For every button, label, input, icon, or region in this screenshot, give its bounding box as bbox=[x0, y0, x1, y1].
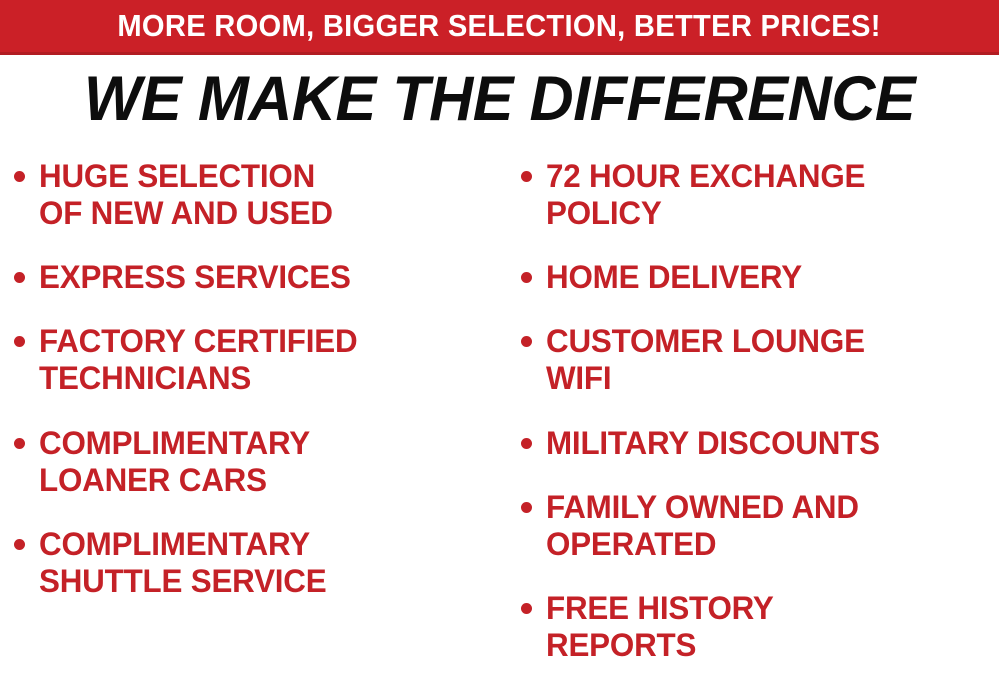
list-item-label: COMPLIMENTARY LOANER CARS bbox=[39, 425, 310, 499]
list-item: FACTORY CERTIFIED TECHNICIANS bbox=[14, 323, 505, 397]
benefits-column-right: 72 HOUR EXCHANGE POLICY HOME DELIVERY CU… bbox=[505, 158, 999, 692]
main-headline-text: WE MAKE THE DIFFERENCE bbox=[84, 68, 915, 131]
list-item: HOME DELIVERY bbox=[521, 259, 999, 296]
banner-headline-text: MORE ROOM, BIGGER SELECTION, BETTER PRIC… bbox=[118, 10, 881, 43]
list-item-label: 72 HOUR EXCHANGE POLICY bbox=[546, 158, 865, 232]
list-item: FREE HISTORY REPORTS bbox=[521, 590, 999, 664]
bullet-dot-icon bbox=[14, 539, 25, 550]
list-item: HUGE SELECTION OF NEW AND USED bbox=[14, 158, 505, 232]
promotional-poster: MORE ROOM, BIGGER SELECTION, BETTER PRIC… bbox=[0, 0, 999, 692]
list-item: EXPRESS SERVICES bbox=[14, 259, 505, 296]
bullet-dot-icon bbox=[521, 272, 532, 283]
list-item-label: EXPRESS SERVICES bbox=[39, 259, 351, 296]
list-item-label: FREE HISTORY REPORTS bbox=[546, 590, 774, 664]
list-item-label: HUGE SELECTION OF NEW AND USED bbox=[39, 158, 333, 232]
bullet-dot-icon bbox=[14, 171, 25, 182]
bullet-dot-icon bbox=[14, 336, 25, 347]
list-item: COMPLIMENTARY SHUTTLE SERVICE bbox=[14, 526, 505, 600]
list-item-label: MILITARY DISCOUNTS bbox=[546, 425, 880, 462]
list-item-label: CUSTOMER LOUNGE WIFI bbox=[546, 323, 865, 397]
list-item-label: FAMILY OWNED AND OPERATED bbox=[546, 489, 859, 563]
list-item: 72 HOUR EXCHANGE POLICY bbox=[521, 158, 999, 232]
list-item: CUSTOMER LOUNGE WIFI bbox=[521, 323, 999, 397]
bullet-dot-icon bbox=[521, 438, 532, 449]
main-headline: WE MAKE THE DIFFERENCE bbox=[0, 68, 999, 131]
benefits-columns: HUGE SELECTION OF NEW AND USED EXPRESS S… bbox=[0, 158, 999, 692]
list-item: MILITARY DISCOUNTS bbox=[521, 425, 999, 462]
list-item-label: HOME DELIVERY bbox=[546, 259, 802, 296]
top-banner: MORE ROOM, BIGGER SELECTION, BETTER PRIC… bbox=[0, 0, 999, 55]
bullet-dot-icon bbox=[521, 336, 532, 347]
benefits-column-left: HUGE SELECTION OF NEW AND USED EXPRESS S… bbox=[0, 158, 505, 692]
bullet-dot-icon bbox=[521, 171, 532, 182]
bullet-dot-icon bbox=[14, 438, 25, 449]
list-item-label: COMPLIMENTARY SHUTTLE SERVICE bbox=[39, 526, 326, 600]
list-item: COMPLIMENTARY LOANER CARS bbox=[14, 425, 505, 499]
bullet-dot-icon bbox=[521, 603, 532, 614]
bullet-dot-icon bbox=[521, 502, 532, 513]
list-item-label: FACTORY CERTIFIED TECHNICIANS bbox=[39, 323, 357, 397]
bullet-dot-icon bbox=[14, 272, 25, 283]
list-item: FAMILY OWNED AND OPERATED bbox=[521, 489, 999, 563]
